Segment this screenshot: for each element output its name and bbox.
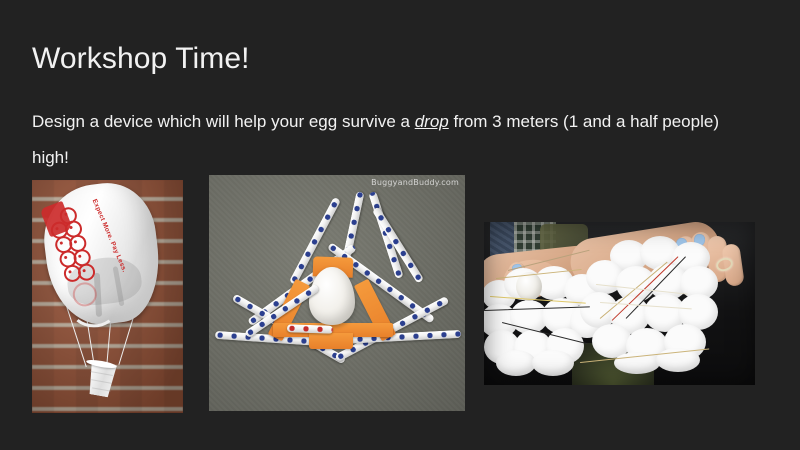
straw-dots [287,324,333,334]
cotton-ball-photo [484,222,755,385]
body-text-part-1: Design a device which will help your egg… [32,112,415,131]
bullseye-logo-column [44,203,94,290]
parachute-bag-photo: Expect More. Pay Less. [32,180,183,413]
body-text-emphasis: drop [415,112,449,131]
watermark-text: BuggyandBuddy.com [371,178,459,187]
straw [287,324,333,334]
straw-pyramid-photo: BuggyandBuddy.com [209,175,465,411]
presentation-slide: Workshop Time! Design a device which wil… [0,0,800,450]
page-title: Workshop Time! [32,42,250,76]
cotton-ball [532,350,574,376]
slide-body-text: Design a device which will help your egg… [32,104,752,176]
cotton-ball [496,350,536,376]
tape-strip [309,333,353,349]
